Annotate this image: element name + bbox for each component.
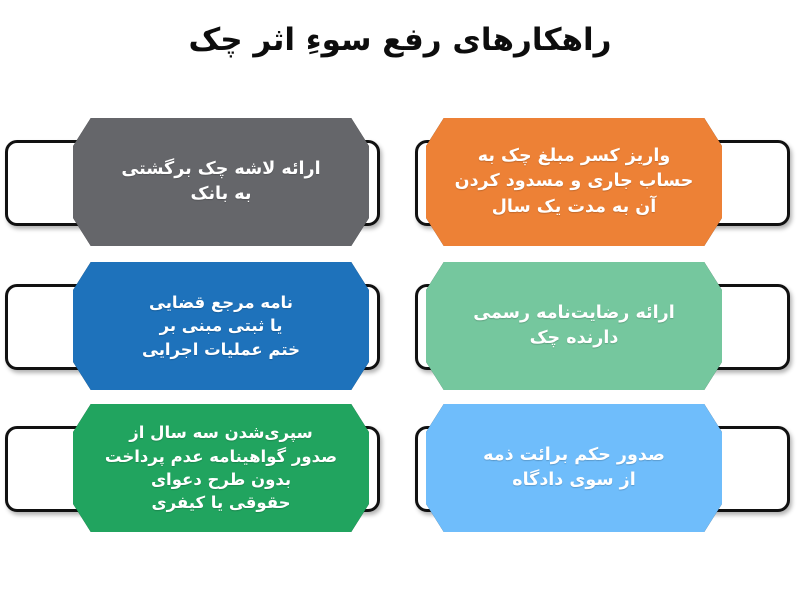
step-text-3: ارائه رضایت‌نامه رسمی دارنده چک [473,301,674,352]
step-card-6[interactable]: ۶ سپری‌شدن سه سال از صدور گواهینامه عدم … [5,404,390,544]
page-title: راهکارهای رفع سوءِ اثر چک [0,22,800,58]
step-text-5: صدور حکم برائت ذمه از سوی دادگاه [483,443,665,494]
step-banner-3[interactable]: ارائه رضایت‌نامه رسمی دارنده چک [426,262,722,390]
step-banner-1[interactable]: واریز کسر مبلغ چک به حساب جاری و مسدود ک… [426,118,722,246]
step-card-2[interactable]: ۲ ارائه لاشه چک برگشتی به بانک [5,118,390,258]
step-text-6: سپری‌شدن سه سال از صدور گواهینامه عدم پر… [105,421,337,515]
step-card-3[interactable]: ۳ ارائه رضایت‌نامه رسمی دارنده چک [405,262,790,402]
step-banner-4[interactable]: نامه مرجع قضایی یا ثبتی مبنی بر ختم عملی… [73,262,369,390]
step-text-1: واریز کسر مبلغ چک به حساب جاری و مسدود ک… [455,144,694,220]
step-card-4[interactable]: ۴ نامه مرجع قضایی یا ثبتی مبنی بر ختم عم… [5,262,390,402]
infographic-canvas: راهکارهای رفع سوءِ اثر چک ۱ واریز کسر مب… [0,0,800,600]
step-banner-6[interactable]: سپری‌شدن سه سال از صدور گواهینامه عدم پر… [73,404,369,532]
step-banner-5[interactable]: صدور حکم برائت ذمه از سوی دادگاه [426,404,722,532]
step-card-1[interactable]: ۱ واریز کسر مبلغ چک به حساب جاری و مسدود… [405,118,790,258]
step-text-2: ارائه لاشه چک برگشتی به بانک [121,157,320,208]
step-banner-2[interactable]: ارائه لاشه چک برگشتی به بانک [73,118,369,246]
step-text-4: نامه مرجع قضایی یا ثبتی مبنی بر ختم عملی… [142,291,300,361]
step-card-5[interactable]: ۵ صدور حکم برائت ذمه از سوی دادگاه [405,404,790,544]
